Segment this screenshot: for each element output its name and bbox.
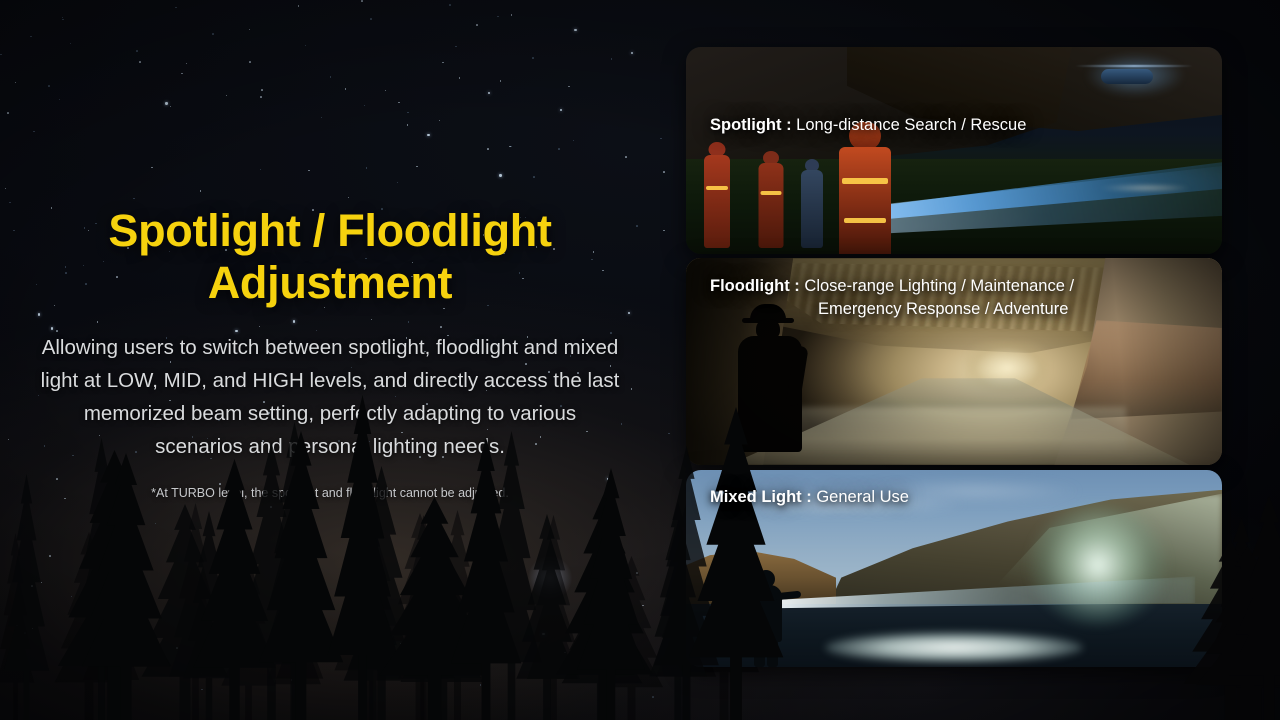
panel-spotlight-caption: Spotlight : Long-distance Search / Rescu… xyxy=(710,114,1204,137)
panel-floodlight[interactable]: Floodlight : Close-range Lighting / Main… xyxy=(686,258,1222,465)
helicopter-icon xyxy=(1075,59,1195,93)
panel-floodlight-caption: Floodlight : Close-range Lighting / Main… xyxy=(710,275,1204,321)
panel-mixed-light-caption: Mixed Light : General Use xyxy=(710,486,1204,509)
rescue-figure xyxy=(702,142,732,250)
rescue-figure-main xyxy=(836,122,894,250)
rescue-figure xyxy=(799,159,825,250)
panel-floodlight-label: Floodlight : xyxy=(710,277,800,295)
panel-floodlight-value-line2: Emergency Response / Adventure xyxy=(710,298,1204,321)
panel-floodlight-value: Close-range Lighting / Maintenance / xyxy=(804,277,1074,295)
panel-spotlight[interactable]: Spotlight : Long-distance Search / Rescu… xyxy=(686,47,1222,254)
panel-mixed-light-value: General Use xyxy=(816,488,909,506)
page-title: Spotlight / Floodlight Adjustment xyxy=(50,205,610,309)
body-description: Allowing users to switch between spotlig… xyxy=(40,331,620,463)
panel-spotlight-value: Long-distance Search / Rescue xyxy=(796,116,1026,134)
panel-spotlight-label: Spotlight : xyxy=(710,116,792,134)
rescue-figure xyxy=(756,151,786,250)
panel-stack: Spotlight : Long-distance Search / Rescu… xyxy=(686,0,1222,720)
panel-spotlight-image xyxy=(686,47,1222,254)
panel-mixed-light-label: Mixed Light : xyxy=(710,488,812,506)
